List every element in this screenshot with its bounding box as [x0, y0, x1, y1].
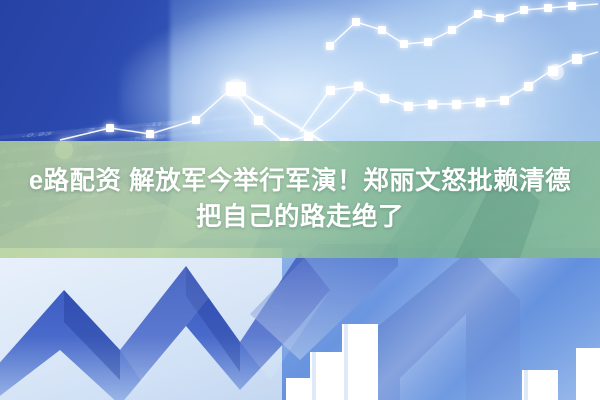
bar-chart-icon: [0, 248, 600, 400]
headline-text: e路配资 解放军今举行军演！郑丽文怒批赖清德 把自己的路走绝了: [0, 141, 600, 258]
banner-image: -0.93 2.36 -11.25 45.02 21.15 -1.25 1.25…: [0, 0, 600, 400]
bar-column: [286, 378, 312, 400]
headline-line-1: e路配资 解放军今举行军演！郑丽文怒批赖清德: [29, 165, 571, 198]
headline-line-2: 把自己的路走绝了: [196, 201, 404, 234]
bar-column: [576, 348, 600, 400]
